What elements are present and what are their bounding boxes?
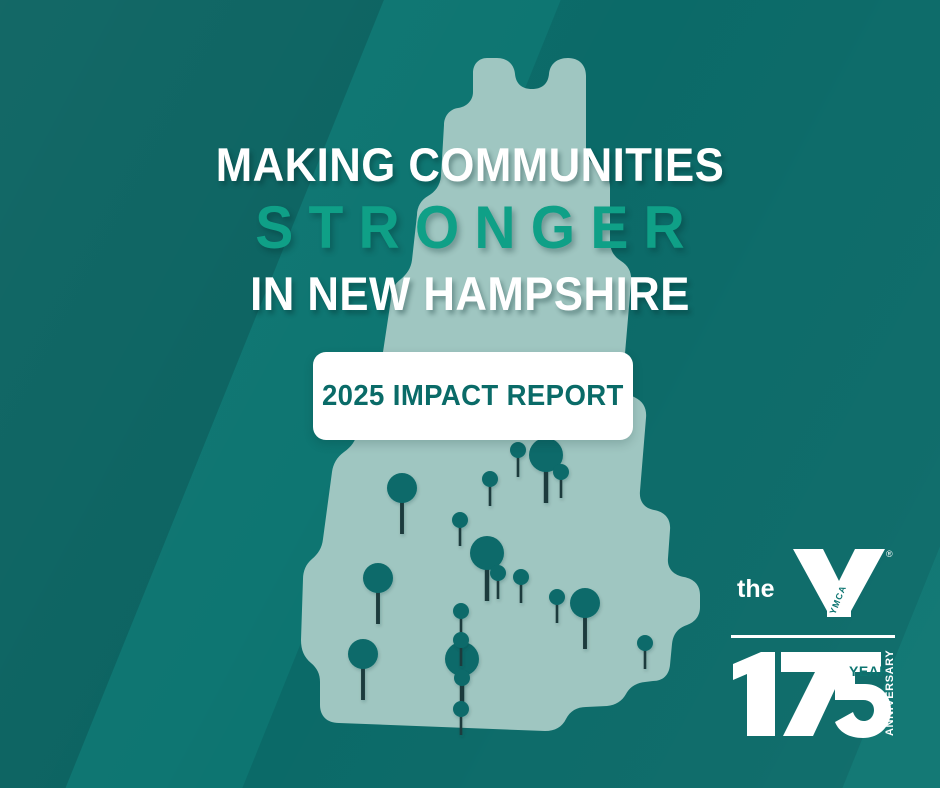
y-mark-icon: the ® YMCA bbox=[731, 543, 895, 621]
registered-mark-text: ® bbox=[886, 549, 893, 559]
map-pin-head bbox=[510, 442, 526, 458]
map-pin-head bbox=[549, 589, 565, 605]
anniversary-175-icon: YEAR ANNIVERSARY bbox=[731, 650, 895, 738]
map-pin-head bbox=[470, 536, 504, 570]
badge-label: 2025 IMPACT REPORT bbox=[322, 380, 624, 413]
impact-report-poster: MAKING COMMUNITIES STRONGER IN NEW HAMPS… bbox=[0, 0, 940, 788]
map-pin-head bbox=[453, 632, 469, 648]
map-pin-head bbox=[553, 464, 569, 480]
anniversary-word-text: ANNIVERSARY bbox=[884, 650, 895, 736]
map-pin-head bbox=[452, 512, 468, 528]
map-pin-head bbox=[453, 701, 469, 717]
logo-divider bbox=[731, 635, 895, 638]
the-y-logo: the ® YMCA bbox=[731, 543, 895, 621]
map-pin-head bbox=[454, 670, 470, 686]
map-pin-head bbox=[570, 588, 600, 618]
map-pin-head bbox=[363, 563, 393, 593]
map-pin-head bbox=[387, 473, 417, 503]
map-pin-head bbox=[637, 635, 653, 651]
the-word-text: the bbox=[737, 575, 775, 603]
impact-report-badge[interactable]: 2025 IMPACT REPORT bbox=[313, 352, 633, 440]
ymca-logo-lockup: the ® YMCA YEAR ANNIVERSARY bbox=[731, 543, 895, 732]
map-pin-head bbox=[348, 639, 378, 669]
map-pin-head bbox=[453, 603, 469, 619]
map-pin-head bbox=[482, 471, 498, 487]
map-pin-head bbox=[490, 565, 506, 581]
anniversary-logo: YEAR ANNIVERSARY bbox=[731, 650, 895, 732]
map-pin-head bbox=[513, 569, 529, 585]
